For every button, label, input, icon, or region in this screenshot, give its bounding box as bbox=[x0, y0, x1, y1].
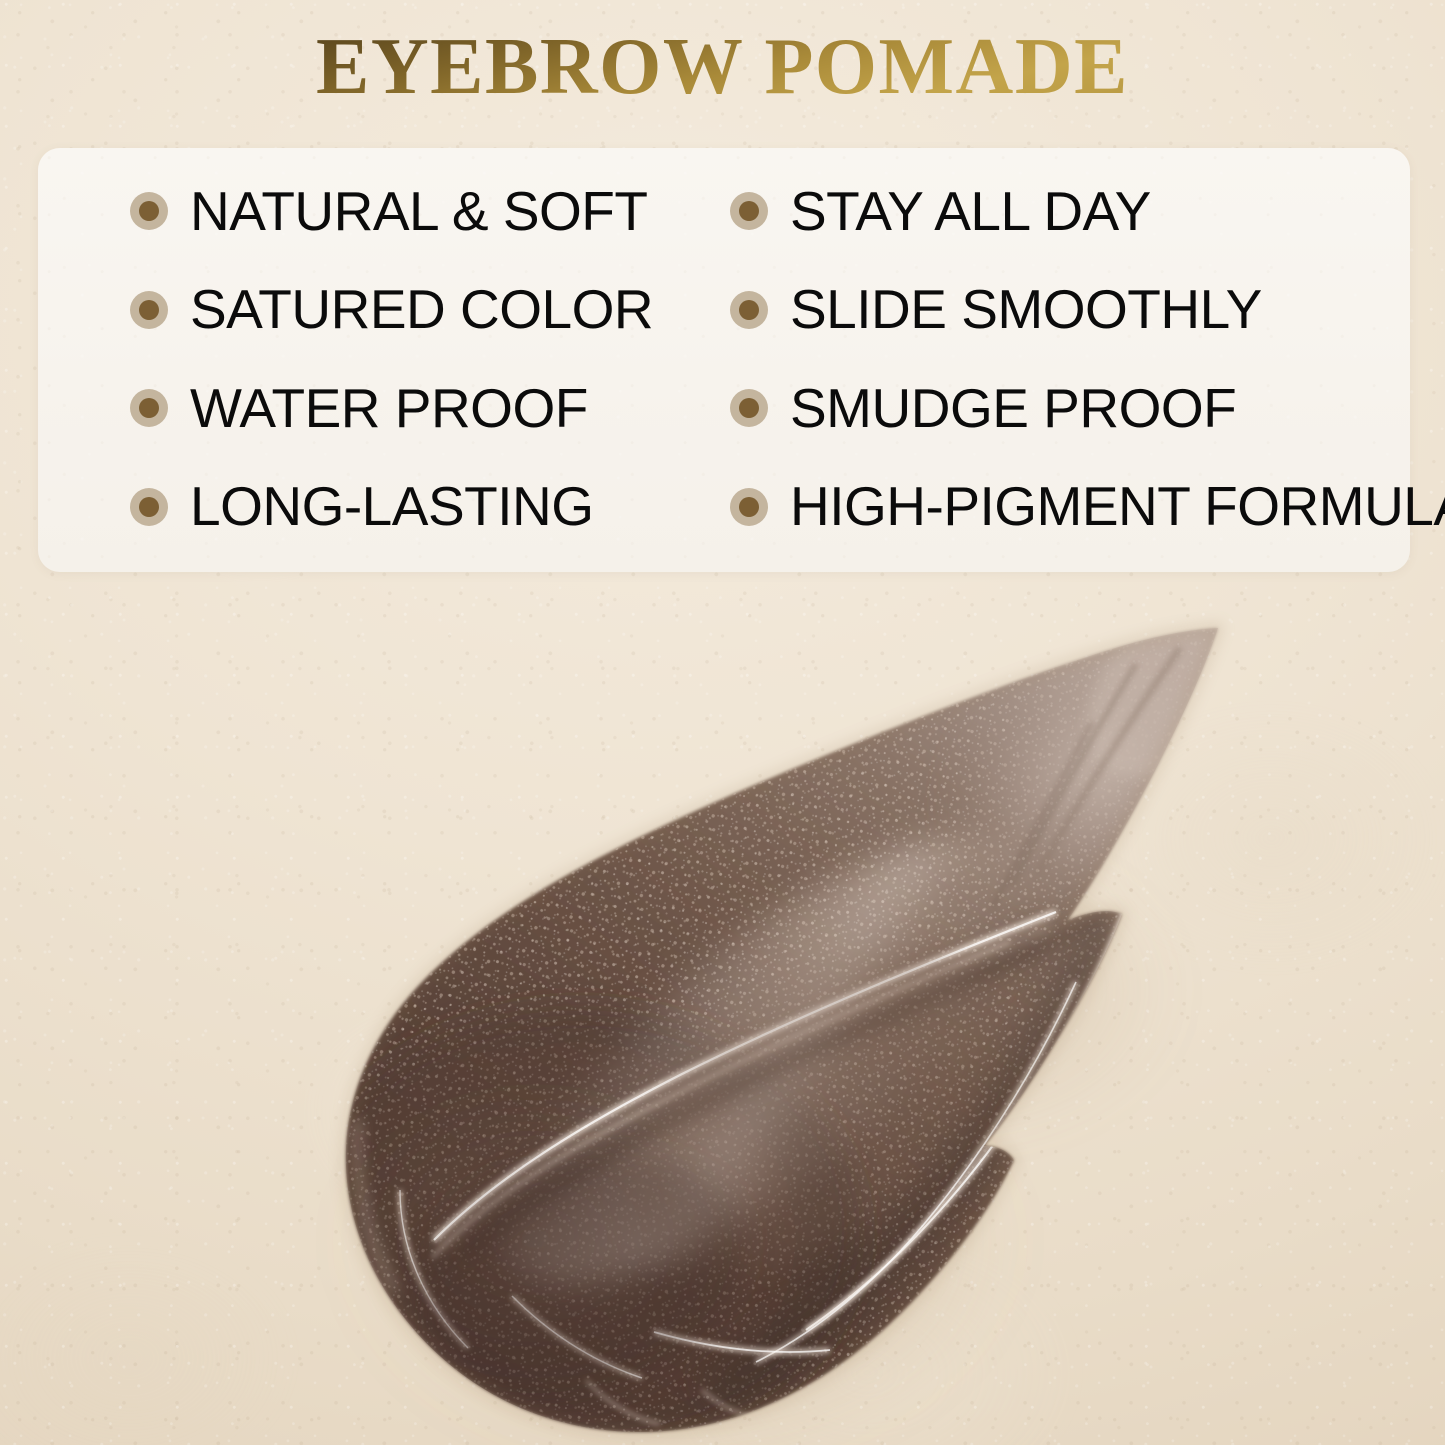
bullet-dot-icon bbox=[730, 488, 768, 526]
feature-item-water-proof: WATER PROOF bbox=[38, 359, 702, 458]
feature-label: LONG-LASTING bbox=[190, 479, 594, 534]
product-swatch bbox=[250, 590, 1260, 1445]
feature-label: SATURED COLOR bbox=[190, 282, 653, 337]
page-title: EYEBROW POMADE bbox=[0, 27, 1445, 107]
bullet-dot-icon bbox=[130, 291, 168, 329]
features-grid: NATURAL & SOFT STAY ALL DAY SATURED COLO… bbox=[38, 148, 1410, 572]
feature-item-satured-color: SATURED COLOR bbox=[38, 261, 702, 360]
bullet-dot-icon bbox=[130, 389, 168, 427]
feature-label: STAY ALL DAY bbox=[790, 184, 1151, 239]
bullet-dot-icon bbox=[730, 291, 768, 329]
feature-item-high-pigment-formula: HIGH-PIGMENT FORMULA bbox=[702, 458, 1445, 557]
bullet-dot-icon bbox=[730, 192, 768, 230]
feature-item-smudge-proof: SMUDGE PROOF bbox=[702, 359, 1445, 458]
bullet-dot-icon bbox=[730, 389, 768, 427]
feature-label: HIGH-PIGMENT FORMULA bbox=[790, 479, 1445, 534]
feature-item-slide-smoothly: SLIDE SMOOTHLY bbox=[702, 261, 1445, 360]
features-card: NATURAL & SOFT STAY ALL DAY SATURED COLO… bbox=[38, 148, 1410, 572]
feature-item-natural-soft: NATURAL & SOFT bbox=[38, 162, 702, 261]
product-feature-graphic: EYEBROW POMADE NATURAL & SOFT STAY ALL D… bbox=[0, 0, 1445, 1445]
feature-item-long-lasting: LONG-LASTING bbox=[38, 458, 702, 557]
bullet-dot-icon bbox=[130, 488, 168, 526]
feature-label: SLIDE SMOOTHLY bbox=[790, 282, 1262, 337]
feature-label: NATURAL & SOFT bbox=[190, 184, 648, 239]
feature-item-stay-all-day: STAY ALL DAY bbox=[702, 162, 1445, 261]
bullet-dot-icon bbox=[130, 192, 168, 230]
feature-label: SMUDGE PROOF bbox=[790, 381, 1236, 436]
feature-label: WATER PROOF bbox=[190, 381, 588, 436]
